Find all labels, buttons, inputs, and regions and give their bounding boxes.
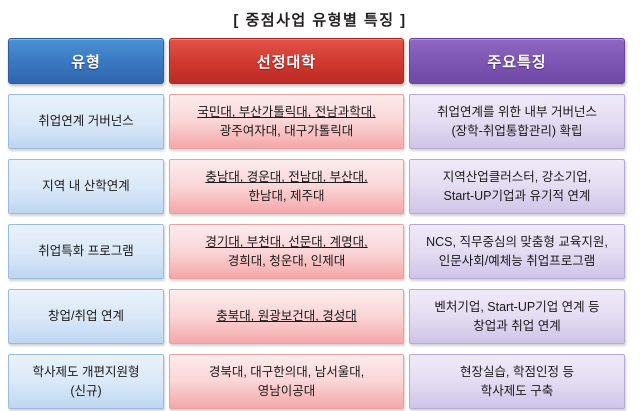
text-line: NCS, 직무중심의 맞춤형 교육지원,	[426, 233, 608, 251]
text-line: 지역산업클러스터, 강소기업,	[443, 168, 591, 186]
table-row: 학사제도 개편지원형 (신규) 경북대, 대구한의대, 남서울대, 영남이공대 …	[8, 354, 632, 409]
table-row: 지역 내 산학연계 충남대, 경운대, 전남대, 부산대, 한남대, 제주대 지…	[8, 159, 632, 214]
text-line: 창업/취업 연계	[48, 307, 124, 325]
cell-type: 창업/취업 연계	[8, 289, 164, 344]
text-line: 한남대, 제주대	[205, 187, 367, 205]
text-line: 광주여자대, 대구가톨릭대	[197, 122, 375, 140]
text-line: 충북대, 원광보건대, 경성대	[216, 307, 356, 325]
cell-universities: 국민대, 부산가톨릭대, 전남과학대, 광주여자대, 대구가톨릭대	[169, 94, 404, 149]
cell-universities-text: 경북대, 대구한의대, 남서울대, 영남이공대	[209, 363, 364, 399]
text-line: 경기대, 부천대, 선문대, 계명대,	[205, 233, 367, 251]
column-header-type: 유형	[8, 38, 164, 84]
comparison-table: 유형 선정대학 주요특징 취업연계 거버넌스 국민대, 부산가톨릭대, 전남과학…	[0, 38, 640, 409]
cell-feature-text: 벤처기업, Start-UP기업 연계 등 창업과 취업 연계	[434, 298, 599, 334]
cell-type-text: 창업/취업 연계	[48, 307, 124, 325]
column-header-features-label: 주요특징	[487, 51, 546, 72]
text-line: 학사제도 구축	[460, 382, 574, 400]
table-header-row: 유형 선정대학 주요특징	[8, 38, 632, 84]
column-header-type-label: 유형	[71, 51, 101, 72]
cell-type-text: 취업연계 거버넌스	[38, 112, 133, 130]
cell-feature-text: 현장실습, 학점인정 등 학사제도 구축	[460, 363, 574, 399]
text-line: 취업연계 거버넌스	[38, 112, 133, 130]
text-line: 학사제도 개편지원형	[33, 363, 140, 381]
cell-feature: 지역산업클러스터, 강소기업, Start-UP기업과 유기적 연계	[409, 159, 625, 214]
cell-type: 학사제도 개편지원형 (신규)	[8, 354, 164, 409]
column-header-universities: 선정대학	[169, 38, 404, 84]
cell-type-text: 학사제도 개편지원형 (신규)	[33, 363, 140, 399]
cell-feature: 현장실습, 학점인정 등 학사제도 구축	[409, 354, 625, 409]
table-row: 창업/취업 연계 충북대, 원광보건대, 경성대 벤처기업, Start-UP기…	[8, 289, 632, 344]
cell-universities-text: 경기대, 부천대, 선문대, 계명대, 경희대, 청운대, 인제대	[205, 233, 367, 269]
cell-type-text: 지역 내 산학연계	[42, 177, 129, 195]
cell-universities: 경북대, 대구한의대, 남서울대, 영남이공대	[169, 354, 404, 409]
text-line: 현장실습, 학점인정 등	[460, 363, 574, 381]
column-header-universities-label: 선정대학	[257, 51, 316, 72]
cell-universities: 경기대, 부천대, 선문대, 계명대, 경희대, 청운대, 인제대	[169, 224, 404, 279]
text-line: 지역 내 산학연계	[42, 177, 129, 195]
text-line: 충남대, 경운대, 전남대, 부산대,	[205, 168, 367, 186]
cell-type-text: 취업특화 프로그램	[38, 242, 133, 260]
cell-feature: 취업연계를 위한 내부 거버넌스 (장학-취업통합관리) 확립	[409, 94, 625, 149]
cell-universities-text: 국민대, 부산가톨릭대, 전남과학대, 광주여자대, 대구가톨릭대	[197, 103, 375, 139]
cell-feature-text: NCS, 직무중심의 맞춤형 교육지원, 인문사회/예체능 취업프로그램	[426, 233, 608, 269]
cell-universities: 충남대, 경운대, 전남대, 부산대, 한남대, 제주대	[169, 159, 404, 214]
text-line: 창업과 취업 연계	[434, 317, 599, 335]
cell-feature: 벤처기업, Start-UP기업 연계 등 창업과 취업 연계	[409, 289, 625, 344]
text-line: 경희대, 청운대, 인제대	[205, 252, 367, 270]
cell-universities: 충북대, 원광보건대, 경성대	[169, 289, 404, 344]
cell-feature-text: 지역산업클러스터, 강소기업, Start-UP기업과 유기적 연계	[443, 168, 591, 204]
page-root: [ 중점사업 유형별 특징 ] 유형 선정대학 주요특징 취업연계 거버넌스	[0, 0, 640, 411]
cell-universities-text: 충남대, 경운대, 전남대, 부산대, 한남대, 제주대	[205, 168, 367, 204]
cell-type: 지역 내 산학연계	[8, 159, 164, 214]
text-line: (신규)	[33, 382, 140, 400]
text-line: Start-UP기업과 유기적 연계	[443, 187, 591, 205]
table-row: 취업연계 거버넌스 국민대, 부산가톨릭대, 전남과학대, 광주여자대, 대구가…	[8, 94, 632, 149]
text-line: 경북대, 대구한의대, 남서울대,	[209, 363, 364, 381]
cell-feature: NCS, 직무중심의 맞춤형 교육지원, 인문사회/예체능 취업프로그램	[409, 224, 625, 279]
text-line: 국민대, 부산가톨릭대, 전남과학대,	[197, 103, 375, 121]
text-line: 취업연계를 위한 내부 거버넌스	[437, 103, 597, 121]
text-line: (장학-취업통합관리) 확립	[437, 122, 597, 140]
title-bar: [ 중점사업 유형별 특징 ]	[0, 0, 640, 38]
cell-feature-text: 취업연계를 위한 내부 거버넌스 (장학-취업통합관리) 확립	[437, 103, 597, 139]
text-line: 취업특화 프로그램	[38, 242, 133, 260]
table-row: 취업특화 프로그램 경기대, 부천대, 선문대, 계명대, 경희대, 청운대, …	[8, 224, 632, 279]
cell-type: 취업연계 거버넌스	[8, 94, 164, 149]
text-line: 인문사회/예체능 취업프로그램	[426, 252, 608, 270]
text-line: 영남이공대	[209, 382, 364, 400]
cell-universities-text: 충북대, 원광보건대, 경성대	[216, 307, 356, 325]
page-title: [ 중점사업 유형별 특징 ]	[233, 9, 406, 30]
cell-type: 취업특화 프로그램	[8, 224, 164, 279]
text-line: 벤처기업, Start-UP기업 연계 등	[434, 298, 599, 316]
column-header-features: 주요특징	[409, 38, 625, 84]
